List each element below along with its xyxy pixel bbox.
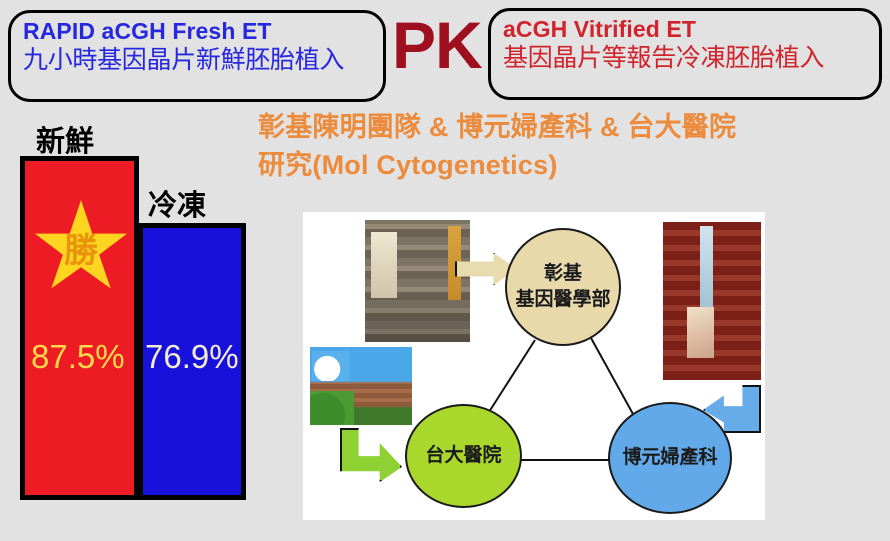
diagram-node-cgmh[interactable]: 彰基 基因醫學部 <box>505 228 621 346</box>
winner-star-label: 勝 <box>57 223 105 272</box>
study-title: 彰基陳明團隊 & 博元婦產科 & 台大醫院 研究(Mol Cytogenetic… <box>258 108 878 185</box>
bowen-building-photo <box>663 222 761 380</box>
collaboration-diagram-panel: 彰基 基因醫學部 台大醫院 博元婦產科 <box>303 212 765 520</box>
diagram-node-ntuh-line1: 台大醫院 <box>425 443 501 469</box>
diagram-node-bowen-line1: 博元婦產科 <box>622 445 717 471</box>
diagram-node-cgmh-line1: 彰基 <box>544 261 582 287</box>
diagram-node-cgmh-line2: 基因醫學部 <box>515 287 610 313</box>
diagram-node-bowen[interactable]: 博元婦產科 <box>608 402 732 514</box>
bar-value-fresh: 87.5% <box>31 338 125 376</box>
slide-canvas: RAPID aCGH Fresh ET 九小時基因晶片新鮮胚胎植入 PK aCG… <box>0 0 890 541</box>
vitrified-et-english-label: aCGH Vitrified ET <box>503 15 869 43</box>
study-title-line2: 研究(Mol Cytogenetics) <box>258 146 878 184</box>
cgmh-building-photo <box>365 220 470 342</box>
fresh-et-chinese-label: 九小時基因晶片新鮮胚胎植入 <box>23 45 373 76</box>
pk-versus-label: PK <box>392 12 482 78</box>
vitrified-et-label-box: aCGH Vitrified ET 基因晶片等報告冷凍胚胎植入 <box>488 8 882 100</box>
study-title-line1: 彰基陳明團隊 & 博元婦產科 & 台大醫院 <box>258 108 878 146</box>
ntuh-building-photo <box>310 347 412 425</box>
bar-value-frozen: 76.9% <box>145 338 239 376</box>
bar-category-label-frozen: 冷凍 <box>148 182 206 224</box>
diagram-node-ntuh[interactable]: 台大醫院 <box>405 404 522 508</box>
pregnancy-rate-bar-chart: 新鮮 冷凍 勝 87.5% 76.9% <box>0 120 270 520</box>
fresh-et-label-box: RAPID aCGH Fresh ET 九小時基因晶片新鮮胚胎植入 <box>8 10 386 102</box>
vitrified-et-chinese-label: 基因晶片等報告冷凍胚胎植入 <box>503 43 869 74</box>
fresh-et-english-label: RAPID aCGH Fresh ET <box>23 17 373 45</box>
bar-category-label-fresh: 新鮮 <box>36 118 94 160</box>
